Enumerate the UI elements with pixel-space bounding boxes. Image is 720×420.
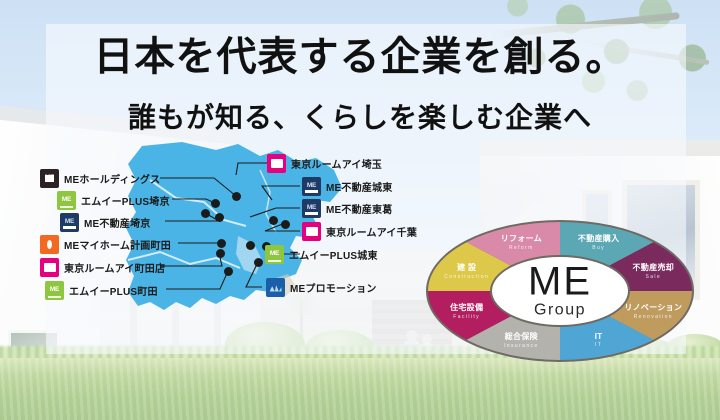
- map-pin[interactable]: [269, 216, 278, 225]
- wheel-graphic: [424, 218, 696, 364]
- me-fudosan-tokatsu-logo: ME: [302, 199, 321, 218]
- map-label-tokyo-room-eye-machida[interactable]: 東京ルームアイ町田店: [40, 258, 165, 277]
- map-pin[interactable]: [215, 213, 224, 222]
- map-label-text: ME不動産東葛: [326, 201, 392, 216]
- map-label-me-myhome-machida[interactable]: MEマイホーム計画町田: [40, 235, 171, 254]
- map-pin[interactable]: [201, 209, 210, 218]
- map-label-text: エムイーPLUS城東: [289, 247, 378, 262]
- map-label-me-fudosan-saikyo[interactable]: ME ME不動産埼京: [60, 213, 150, 232]
- me-plus-machida-logo: ME: [45, 281, 64, 300]
- map-label-me-promotion[interactable]: MEプロモーション: [266, 278, 377, 297]
- map-label-me-plus-machida[interactable]: ME エムイーPLUS町田: [45, 281, 158, 300]
- me-holdings-logo: ME: [40, 169, 59, 188]
- map-label-text: MEホールディングス: [64, 171, 160, 186]
- tokyo-room-eye-saitama-logo: [267, 154, 286, 173]
- tokyo-room-eye-machida-logo: [40, 258, 59, 277]
- me-myhome-machida-logo: [40, 235, 59, 254]
- map-pin[interactable]: [211, 199, 220, 208]
- map-label-text: 東京ルームアイ埼玉: [291, 156, 382, 171]
- map-label-text: ME不動産城東: [326, 179, 392, 194]
- map-pin[interactable]: [281, 220, 290, 229]
- hero-banner: 日本を代表する企業を創る。 誰もが知る、くらしを楽しむ企業へ: [0, 0, 720, 420]
- map-label-text: MEマイホーム計画町田: [64, 237, 171, 252]
- tokyo-room-eye-chiba-logo: [302, 222, 321, 241]
- map-label-text: ME不動産埼京: [84, 215, 150, 230]
- me-plus-saikyo-logo: ME: [57, 191, 76, 210]
- map-label-me-plus-joto[interactable]: ME エムイーPLUS城東: [265, 245, 378, 264]
- map-label-me-holdings[interactable]: ME MEホールディングス: [40, 169, 160, 188]
- map-pin[interactable]: [217, 239, 226, 248]
- map-label-text: エムイーPLUS町田: [69, 283, 158, 298]
- map-label-me-fudosan-tokatsu[interactable]: ME ME不動産東葛: [302, 199, 392, 218]
- map-pin[interactable]: [216, 249, 225, 258]
- map-label-me-fudosan-joto[interactable]: ME ME不動産城東: [302, 177, 392, 196]
- map-label-text: 東京ルームアイ千葉: [326, 224, 417, 239]
- map-pin[interactable]: [224, 267, 233, 276]
- me-fudosan-saikyo-logo: ME: [60, 213, 79, 232]
- map-pin[interactable]: [254, 258, 263, 267]
- map-pin[interactable]: [232, 192, 241, 201]
- me-group-wheel: ME Group 不動産購入Buy不動産売却SaleリノベーションRenovat…: [424, 218, 696, 364]
- me-promotion-logo: [266, 278, 285, 297]
- map-label-text: エムイーPLUS埼京: [81, 193, 170, 208]
- map-label-tokyo-room-eye-chiba[interactable]: 東京ルームアイ千葉: [302, 222, 417, 241]
- map-label-me-plus-saikyo[interactable]: ME エムイーPLUS埼京: [57, 191, 170, 210]
- map-label-text: MEプロモーション: [290, 280, 377, 295]
- map-pin[interactable]: [246, 241, 255, 250]
- wheel-center-hub: [492, 257, 628, 325]
- map-label-tokyo-room-eye-saitama[interactable]: 東京ルームアイ埼玉: [267, 154, 382, 173]
- map-label-text: 東京ルームアイ町田店: [64, 260, 165, 275]
- me-plus-joto-logo: ME: [265, 245, 284, 264]
- me-fudosan-joto-logo: ME: [302, 177, 321, 196]
